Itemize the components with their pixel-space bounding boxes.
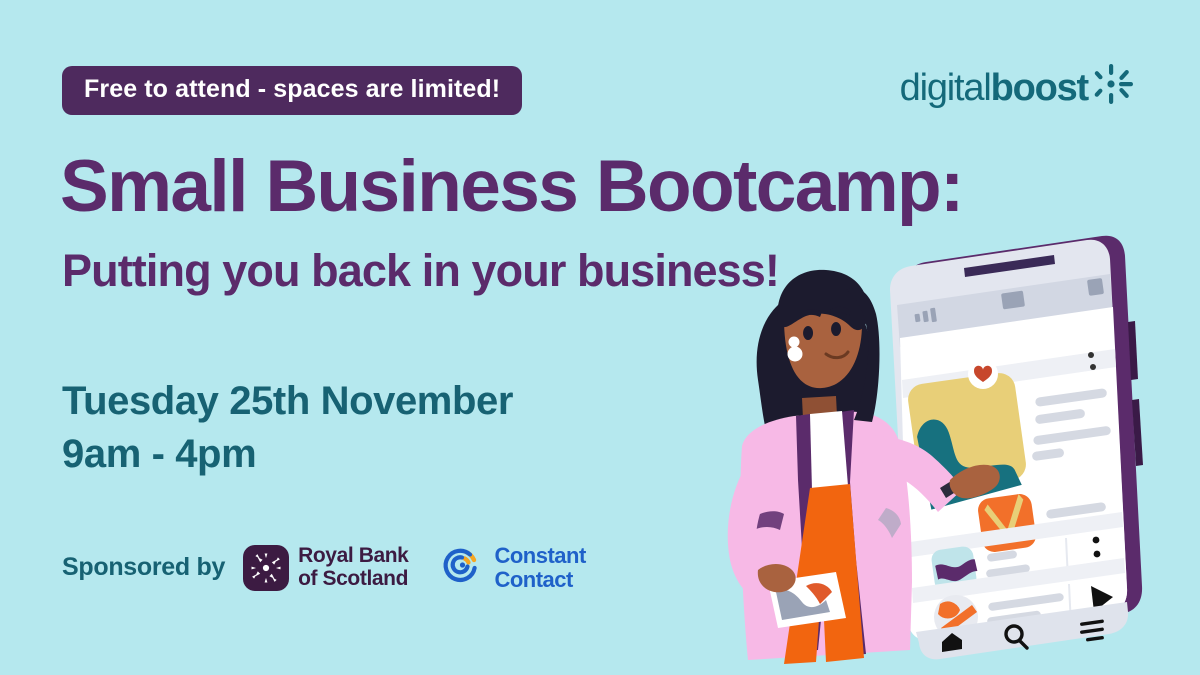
- logo-word-boost: boost: [991, 67, 1088, 109]
- event-time: 9am - 4pm: [62, 428, 513, 481]
- starburst-icon: [1094, 62, 1138, 111]
- digitalboost-logo: digitalboost: [900, 62, 1138, 113]
- event-banner: Free to attend - spaces are limited! dig…: [0, 0, 1200, 675]
- constant-contact-wordmark: Constant Contact: [494, 544, 585, 591]
- event-schedule: Tuesday 25th November 9am - 4pm: [62, 375, 513, 481]
- battery-icon: [1087, 278, 1104, 296]
- logo-word-digital: digital: [900, 67, 991, 109]
- constant-contact-spiral-icon: [440, 542, 486, 593]
- rbs-daisy-icon: [243, 545, 289, 591]
- sponsored-by-label: Sponsored by: [62, 553, 225, 582]
- sponsors-row: Sponsored by: [62, 542, 586, 593]
- top: [810, 411, 848, 490]
- rbs-wordmark: Royal Bank of Scotland: [298, 545, 408, 590]
- rbs-line-2: of Scotland: [298, 568, 408, 591]
- cc-line-2: Contact: [494, 568, 585, 591]
- digitalboost-wordmark: digitalboost: [900, 69, 1088, 107]
- app-title-block: [1001, 291, 1025, 310]
- page-title: Small Business Bootcamp:: [60, 150, 963, 223]
- rbs-line-1: Royal Bank: [298, 545, 408, 568]
- sponsor-constant-contact: Constant Contact: [440, 542, 585, 593]
- availability-badge: Free to attend - spaces are limited!: [62, 66, 522, 115]
- event-date: Tuesday 25th November: [62, 375, 513, 428]
- menu-icon: [1080, 619, 1104, 641]
- sponsor-royal-bank-of-scotland: Royal Bank of Scotland: [243, 545, 408, 591]
- hero-illustration: [650, 230, 1200, 675]
- cc-line-1: Constant: [494, 544, 585, 567]
